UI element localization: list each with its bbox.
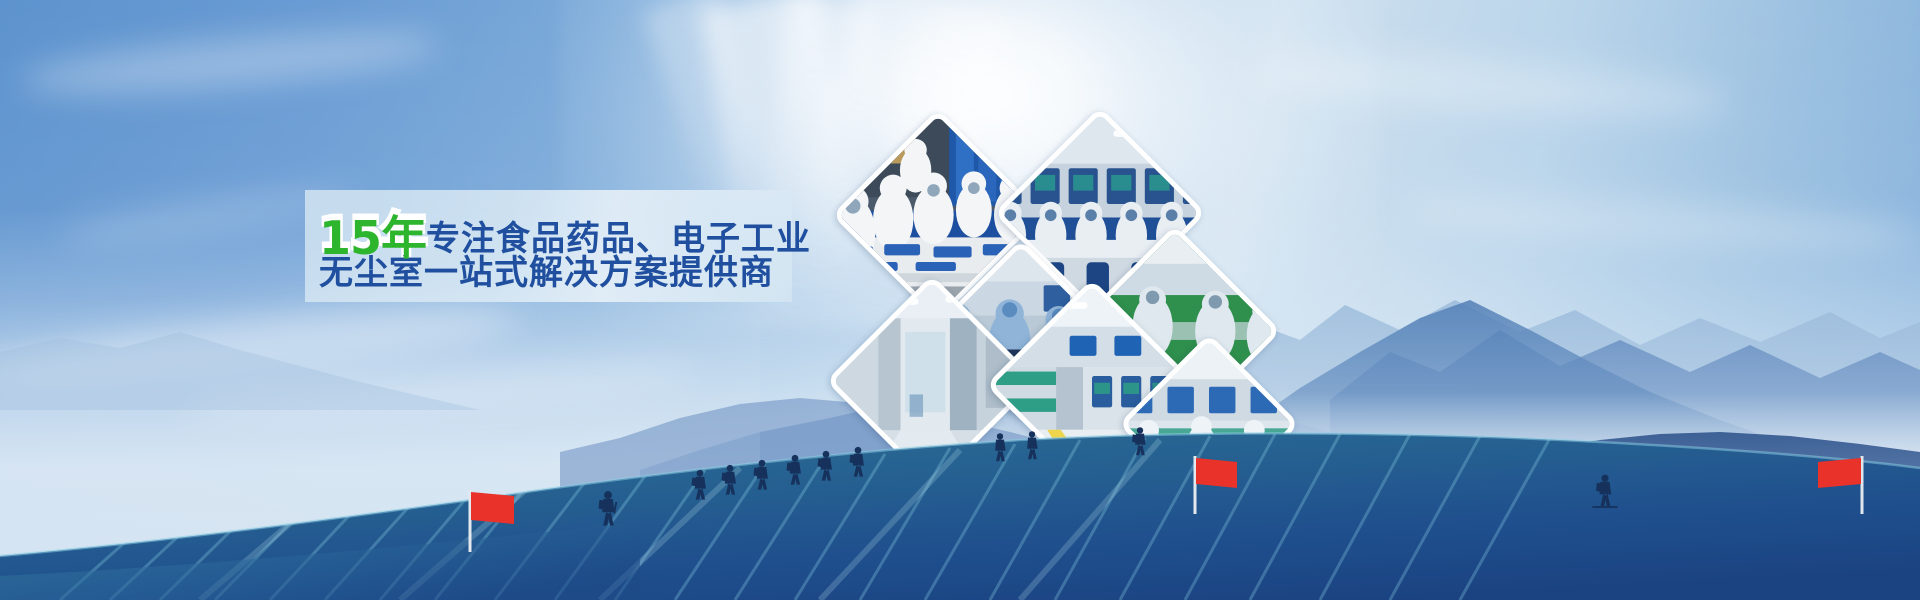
banner-stage: 15年 15年 专注食品药品、电子工业 无尘室一站式解决方案提供商 bbox=[0, 0, 1920, 600]
years-number: 15年 bbox=[319, 211, 426, 265]
years-badge: 15年 15年 bbox=[319, 198, 426, 264]
headline-panel: 15年 15年 专注食品药品、电子工业 无尘室一站式解决方案提供商 bbox=[305, 190, 792, 302]
snow-ridge-with-climbers bbox=[0, 370, 1920, 600]
